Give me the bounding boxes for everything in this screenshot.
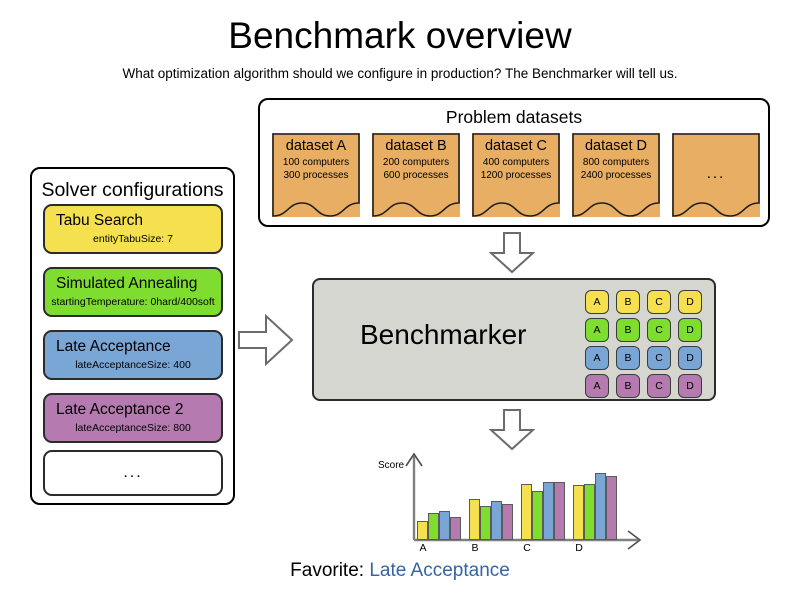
chart-bar [428, 513, 439, 540]
dataset-card-d[interactable]: dataset D 800 computers 2400 processes [572, 133, 660, 217]
benchmark-result-chart: Score A B C D [376, 448, 652, 556]
chart-category-label: C [507, 542, 547, 554]
benchmark-chip[interactable]: B [616, 346, 640, 370]
chart-bar [554, 482, 565, 540]
chart-category-label: A [403, 542, 443, 554]
benchmark-chip[interactable]: D [678, 290, 702, 314]
dataset-card-c[interactable]: dataset C 400 computers 1200 processes [472, 133, 560, 217]
dataset-name: dataset A [272, 137, 360, 156]
page-subtitle: What optimization algorithm should we co… [0, 66, 800, 82]
arrow-right-solver-to-benchmarker-icon [238, 314, 294, 366]
solver-config-param: entityTabuSize: 7 [45, 231, 221, 251]
favorite-prefix: Favorite: [290, 560, 369, 581]
chart-bar [417, 521, 428, 540]
benchmark-chip[interactable]: D [678, 346, 702, 370]
solver-config-param: lateAcceptanceSize: 400 [45, 357, 221, 377]
chart-bar [491, 501, 502, 540]
chart-bar [521, 484, 532, 540]
chart-bar [450, 517, 461, 540]
dataset-processes: 600 processes [372, 169, 460, 182]
solver-configurations-title: Solver configurations [32, 178, 233, 202]
benchmarker-result-grid: A B C D A B C D A B C D A B C D [585, 290, 702, 398]
arrow-down-datasets-to-benchmarker-icon [489, 232, 535, 274]
dataset-name: dataset C [472, 137, 560, 156]
solver-config-card-more[interactable]: ... [43, 450, 223, 496]
dataset-computers: 100 computers [272, 156, 360, 169]
chart-bar [543, 482, 554, 540]
chart-bar [606, 476, 617, 540]
benchmark-chip[interactable]: A [585, 318, 609, 342]
chart-bar [584, 484, 595, 540]
solver-config-card-late-acceptance[interactable]: Late Acceptance lateAcceptanceSize: 400 [43, 330, 223, 380]
chart-bar [439, 511, 450, 540]
dataset-name: dataset B [372, 137, 460, 156]
page-title: Benchmark overview [0, 14, 800, 58]
chart-bar [502, 504, 513, 540]
chart-bar [469, 499, 480, 540]
chart-bar [573, 485, 584, 540]
solver-config-card-late-acceptance-2[interactable]: Late Acceptance 2 lateAcceptanceSize: 80… [43, 393, 223, 443]
chart-bar [480, 506, 491, 540]
dataset-computers: 200 computers [372, 156, 460, 169]
dataset-name: dataset D [572, 137, 660, 156]
dataset-processes: 1200 processes [472, 169, 560, 182]
benchmark-chip[interactable]: C [647, 290, 671, 314]
benchmark-chip[interactable]: B [616, 290, 640, 314]
dataset-processes: 300 processes [272, 169, 360, 182]
benchmark-chip[interactable]: C [647, 318, 671, 342]
dataset-card-a[interactable]: dataset A 100 computers 300 processes [272, 133, 360, 217]
dataset-computers: 400 computers [472, 156, 560, 169]
solver-config-name: Simulated Annealing [45, 274, 221, 294]
dataset-processes: 2400 processes [572, 169, 660, 182]
dataset-card-more[interactable]: ... [672, 133, 760, 217]
dataset-more-label: ... [672, 165, 760, 182]
solver-config-param: startingTemperature: 0hard/400soft [45, 294, 221, 314]
arrow-down-benchmarker-to-chart-icon [489, 409, 535, 451]
problem-datasets-panel: Problem datasets dataset A 100 computers… [258, 98, 770, 227]
benchmark-chip[interactable]: D [678, 374, 702, 398]
benchmark-chip[interactable]: A [585, 374, 609, 398]
solver-config-card-tabu-search[interactable]: Tabu Search entityTabuSize: 7 [43, 204, 223, 254]
benchmark-chip[interactable]: A [585, 290, 609, 314]
problem-datasets-title: Problem datasets [260, 105, 768, 129]
chart-category-label: B [455, 542, 495, 554]
chart-bar [595, 473, 606, 540]
benchmark-chip[interactable]: A [585, 346, 609, 370]
benchmark-chip[interactable]: C [647, 346, 671, 370]
benchmark-chip[interactable]: D [678, 318, 702, 342]
chart-bar [532, 491, 543, 540]
dataset-card-b[interactable]: dataset B 200 computers 600 processes [372, 133, 460, 217]
solver-config-card-simulated-annealing[interactable]: Simulated Annealing startingTemperature:… [43, 267, 223, 317]
dataset-computers: 800 computers [572, 156, 660, 169]
favorite-line: Favorite: Late Acceptance [0, 559, 800, 583]
benchmark-chip[interactable]: B [616, 318, 640, 342]
benchmark-chip[interactable]: B [616, 374, 640, 398]
solver-config-name: Late Acceptance [45, 337, 221, 357]
favorite-value: Late Acceptance [369, 560, 510, 581]
solver-configurations-panel: Solver configurations Tabu Search entity… [30, 167, 235, 505]
benchmark-chip[interactable]: C [647, 374, 671, 398]
solver-config-name: Late Acceptance 2 [45, 400, 221, 420]
benchmarker-box: Benchmarker A B C D A B C D A B C D A B … [312, 278, 716, 401]
solver-config-name: Tabu Search [45, 211, 221, 231]
solver-config-more-label: ... [123, 464, 142, 482]
chart-category-label: D [559, 542, 599, 554]
benchmarker-label: Benchmarker [360, 318, 527, 352]
solver-config-param: lateAcceptanceSize: 800 [45, 420, 221, 440]
